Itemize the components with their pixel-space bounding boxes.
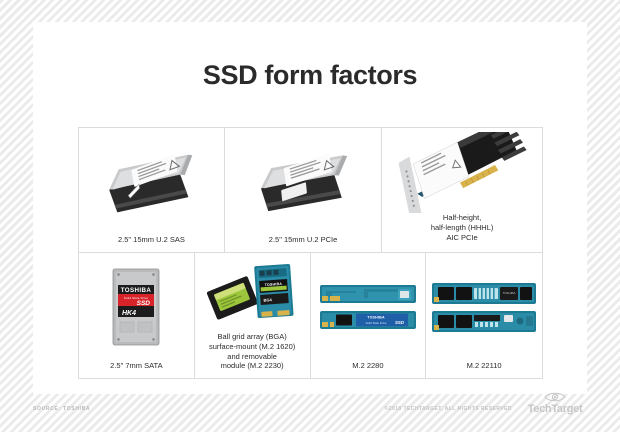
techtarget-wordmark: TechTarget — [528, 404, 583, 415]
grid-row-2: TOSHIBA Solid State Drive SSD HK4 2.5" 7… — [79, 253, 542, 378]
grid-row-1: 2.5" 15mm U.2 SAS — [79, 128, 542, 253]
infographic-card: SSD form factors — [33, 22, 587, 394]
caption-bga-m2-2230: Ball grid array (BGA) surface-mount (M.2… — [206, 332, 298, 378]
form-factor-grid: 2.5" 15mm U.2 SAS — [78, 127, 543, 379]
caption-m2-22110: M.2 22110 — [464, 361, 505, 378]
caption-25-7mm-sata: 2.5" 7mm SATA — [107, 361, 165, 378]
svg-text:TOSHIBA: TOSHIBA — [367, 316, 385, 320]
techtarget-logo: TechTarget — [517, 391, 593, 419]
svg-text:TOSHIBA: TOSHIBA — [121, 287, 152, 294]
cell-bga-m2-2230[interactable]: TOSHIBA BG4 Ball grid array (BGA) surfac… — [195, 253, 311, 378]
cell-m2-2280[interactable]: TOSHIBA Solid State Drive SSD M.2 2280 — [311, 253, 427, 378]
svg-text:SSD: SSD — [395, 320, 405, 325]
cell-u2-pcie[interactable]: 2.5" 15mm U.2 PCIe — [225, 128, 382, 253]
svg-text:BG4: BG4 — [263, 297, 272, 303]
u2-pcie-drive-image — [225, 128, 381, 235]
hhhl-aic-card-image — [382, 128, 542, 213]
cell-25-7mm-sata[interactable]: TOSHIBA Solid State Drive SSD HK4 2.5" 7… — [79, 253, 195, 378]
caption-m2-2280: M.2 2280 — [349, 361, 386, 378]
svg-text:TOSHIBA: TOSHIBA — [503, 291, 516, 295]
svg-text:HK4: HK4 — [122, 310, 136, 317]
eye-icon — [544, 391, 566, 403]
caption-hhhl-aic-pcie: Half-height, half-length (HHHL) AIC PCIe — [428, 213, 497, 252]
toshiba-sata-drive-image: TOSHIBA Solid State Drive SSD HK4 — [79, 253, 194, 361]
svg-text:Solid State Drive: Solid State Drive — [365, 321, 386, 325]
u2-sas-drive-image — [79, 128, 224, 235]
copyright-label: ©2018 TECHTARGET, ALL RIGHTS RESERVED — [385, 406, 512, 412]
source-label: SOURCE: TOSHIBA — [33, 406, 90, 412]
page-title: SSD form factors — [33, 60, 587, 91]
caption-u2-sas: 2.5" 15mm U.2 SAS — [115, 235, 188, 252]
cell-hhhl-aic-pcie[interactable]: Half-height, half-length (HHHL) AIC PCIe — [382, 128, 542, 253]
m2-2280-modules-image: TOSHIBA Solid State Drive SSD — [311, 253, 426, 361]
cell-m2-22110[interactable]: TOSHIBA — [426, 253, 542, 378]
caption-u2-pcie: 2.5" 15mm U.2 PCIe — [266, 235, 341, 252]
bga-and-m2-2230-image: TOSHIBA BG4 — [195, 253, 310, 332]
cell-u2-sas[interactable]: 2.5" 15mm U.2 SAS — [79, 128, 225, 253]
m2-22110-modules-image: TOSHIBA — [426, 253, 542, 361]
svg-text:SSD: SSD — [137, 300, 151, 307]
